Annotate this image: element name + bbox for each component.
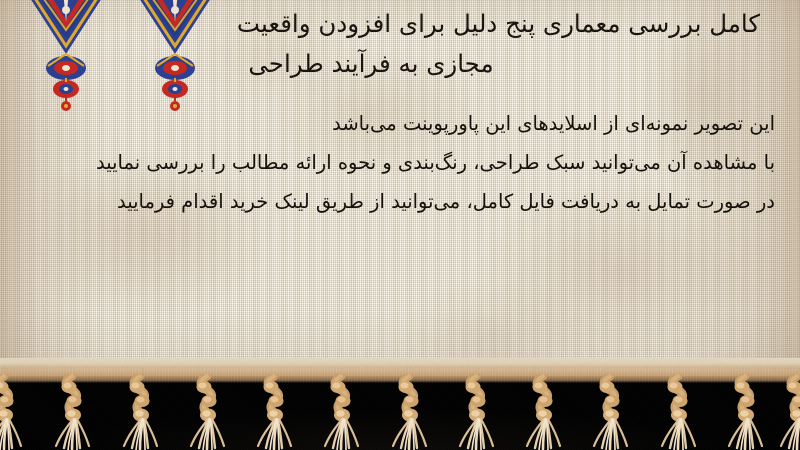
body-text: این تصویر نمونه‌ای از اسلایدهای این پاور… xyxy=(20,104,775,221)
body-line-1: این تصویر نمونه‌ای از اسلایدهای این پاور… xyxy=(20,104,775,143)
body-line-3: در صورت تمایل به دریافت فایل کامل، می‌تو… xyxy=(20,182,775,221)
body-line-2: با مشاهده آن می‌توانید سبک طراحی، رنگ‌بن… xyxy=(20,143,775,182)
carpet-fringe-tassels-icon xyxy=(0,358,800,450)
slide-canvas: کامل بررسی معماری پنج دلیل برای افزودن و… xyxy=(0,0,800,450)
page-title: کامل بررسی معماری پنج دلیل برای افزودن و… xyxy=(40,4,760,84)
title-line-2: مجازی به فرآیند طراحی xyxy=(40,44,760,84)
tassel-row xyxy=(0,374,800,450)
text-block: کامل بررسی معماری پنج دلیل برای افزودن و… xyxy=(0,0,800,380)
title-line-1: کامل بررسی معماری پنج دلیل برای افزودن و… xyxy=(40,4,760,44)
